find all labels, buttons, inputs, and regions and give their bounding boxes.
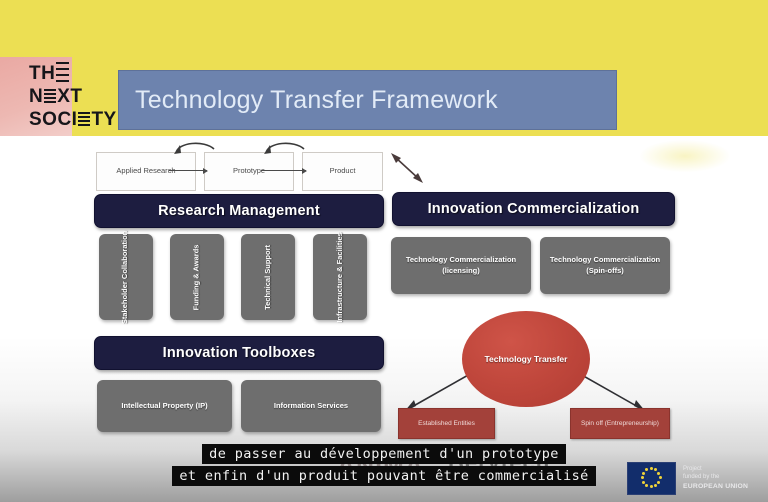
subtitle-line-1: de passer au développement d'un prototyp… <box>202 444 566 464</box>
eu-flag-icon <box>627 462 676 495</box>
cell-label: Infrastructure & Facilities <box>335 232 346 322</box>
cell-information-services: Information Services <box>241 380 381 432</box>
page-title: Technology Transfer Framework <box>119 86 498 115</box>
logo-text-soci: SOCI <box>29 110 77 129</box>
eu-line-2: funded by the <box>683 473 748 481</box>
logo-bar-e-icon <box>78 112 90 127</box>
flow-arrow-1-icon <box>169 170 207 171</box>
bidirectional-diagonal-arrow-icon <box>389 150 425 186</box>
cell-technical-support: Technical Support <box>241 234 295 320</box>
process-flow: Applied Research Prototype Product <box>96 152 381 189</box>
eu-star-icon <box>645 468 648 471</box>
flow-box-product: Product <box>302 152 383 191</box>
video-frame: TH N XT SOCI TY Technology Transfer Fram… <box>0 0 768 502</box>
logo-text-n: N <box>29 87 43 106</box>
eu-line-1: Project <box>683 465 748 473</box>
subtitle-line-2: et enfin d'un produit pouvant être comme… <box>172 466 595 486</box>
cell-label: Technical Support <box>263 245 274 310</box>
logo-bar-e-icon <box>56 62 69 86</box>
cell-label: Funding & Awards <box>192 244 203 310</box>
cell-label: Stakeholder Collaboration <box>121 230 132 323</box>
logo-line-3: SOCI TY <box>29 108 125 131</box>
eu-star-icon <box>650 467 653 470</box>
eu-star-icon <box>642 481 645 484</box>
eu-star-icon <box>650 485 653 488</box>
eu-star-icon <box>642 472 645 475</box>
flow-curved-arrow-2-icon <box>264 140 308 155</box>
eu-funding-badge: Project funded by the EUROPEAN UNION <box>627 461 761 495</box>
cell-tech-commercialization-licensing: Technology Commercialization (licensing) <box>391 237 531 294</box>
cell-intellectual-property: Intellectual Property (IP) <box>97 380 232 432</box>
flow-arrow-2-icon <box>261 170 306 171</box>
logo-text-ty: TY <box>91 110 116 129</box>
flow-box-prototype: Prototype <box>204 152 294 191</box>
section-header-innovation-toolboxes: Innovation Toolboxes <box>94 336 384 370</box>
logo-bar-e-icon <box>44 89 56 104</box>
eu-star-icon <box>645 484 648 487</box>
logo-text-xt: XT <box>57 87 82 106</box>
cell-stakeholder-collaboration: Stakeholder Collaboration <box>99 234 153 320</box>
outcome-spin-off: Spin off (Entrepreneurship) <box>570 408 670 439</box>
cell-infrastructure-facilities: Infrastructure & Facilities <box>313 234 367 320</box>
flow-curved-arrow-1-icon <box>174 140 218 155</box>
eu-star-icon <box>659 476 662 479</box>
slide-watermark <box>640 140 730 172</box>
cell-funding-awards: Funding & Awards <box>170 234 224 320</box>
eu-badge-text: Project funded by the EUROPEAN UNION <box>683 465 748 490</box>
logo-text-the: TH <box>29 64 55 83</box>
eu-star-icon <box>657 472 660 475</box>
eu-star-icon <box>641 476 644 479</box>
technology-transfer-ellipse: Technology Transfer <box>462 311 590 407</box>
section-header-research-management: Research Management <box>94 194 384 228</box>
eu-star-icon <box>654 484 657 487</box>
flow-box-applied-research: Applied Research <box>96 152 196 191</box>
eu-star-icon <box>657 481 660 484</box>
eu-star-icon <box>654 468 657 471</box>
cell-tech-commercialization-spinoffs: Technology Commercialization (Spin-offs) <box>540 237 670 294</box>
section-header-innovation-commercialization: Innovation Commercialization <box>392 192 675 226</box>
outcome-established-entities: Established Entities <box>398 408 495 439</box>
eu-line-3: EUROPEAN UNION <box>683 482 748 491</box>
slide-title-bar: Technology Transfer Framework <box>118 70 617 130</box>
logo-line-1: TH <box>29 62 125 85</box>
logo-line-2: N XT <box>29 85 125 108</box>
the-next-society-logo: TH N XT SOCI TY <box>29 62 125 138</box>
